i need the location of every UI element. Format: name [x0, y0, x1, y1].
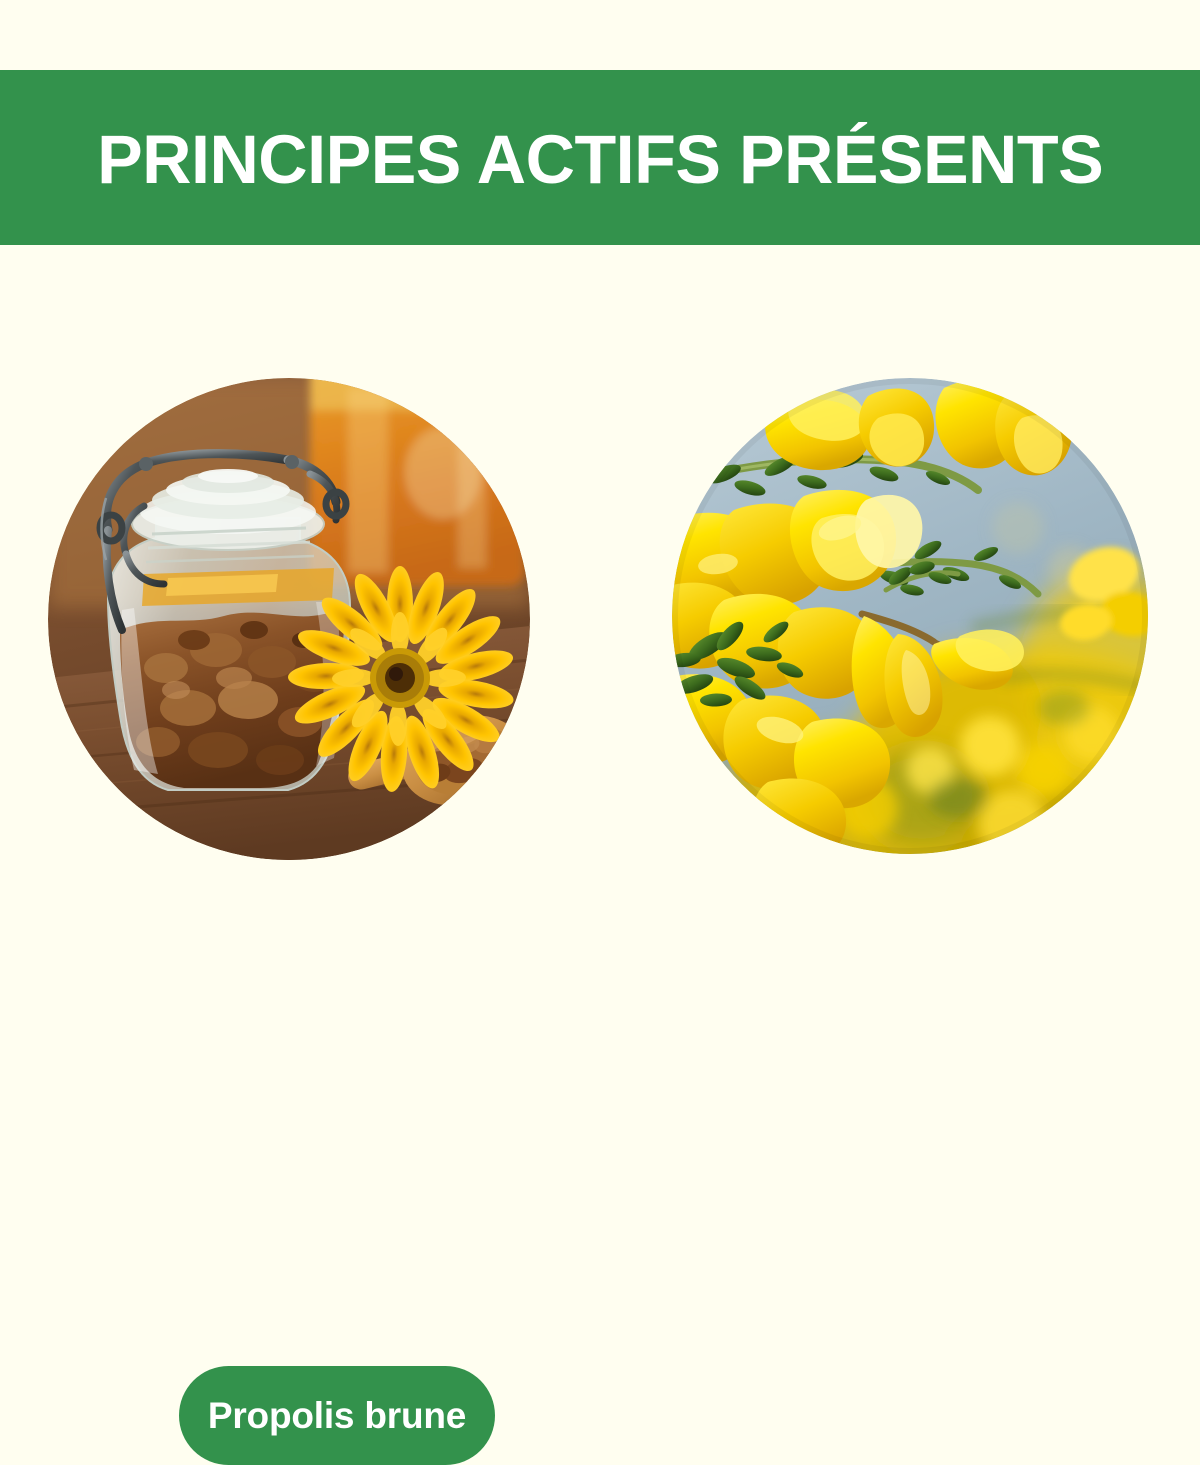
ingredient-label-propolis[interactable]: Propolis brune: [179, 1366, 495, 1465]
ingredient-card-acacia: Poudre d'Acacia: [672, 378, 1148, 854]
ingredient-cards: Propolis brune: [0, 0, 1200, 1200]
ingredient-card-propolis: Propolis brune: [48, 378, 530, 860]
acacia-flowers-image: [672, 378, 1148, 854]
infographic-page: PRINCIPES ACTIFS PRÉSENTS: [0, 0, 1200, 1200]
propolis-jar-image: [48, 378, 530, 860]
ingredient-label-text: Propolis brune: [208, 1397, 466, 1434]
